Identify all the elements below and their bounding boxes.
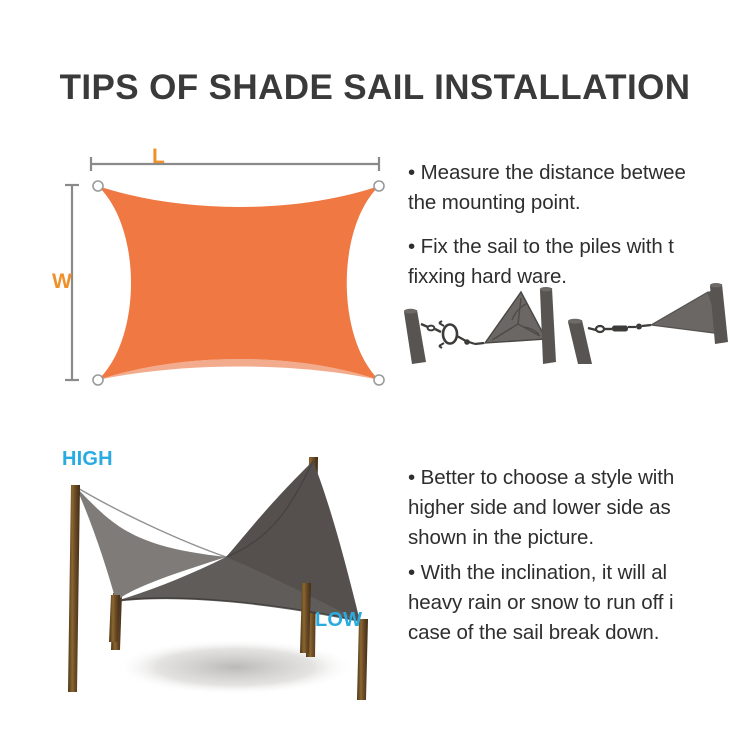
hardware-left-svg xyxy=(400,282,580,364)
mounting-post xyxy=(568,319,592,364)
high-side-label: HIGH xyxy=(62,448,113,471)
pole-front-left-high xyxy=(68,485,80,692)
sail-corner-patch xyxy=(485,292,546,343)
tip-better-text: • Better to choose a style with higher s… xyxy=(408,463,674,553)
mounting-post-left xyxy=(404,309,426,364)
turnbuckle-hardware xyxy=(421,321,484,348)
hardware-right-svg xyxy=(558,282,750,364)
sail-fabric xyxy=(98,186,379,380)
canopy-scene-svg xyxy=(30,435,420,720)
hardware-diagram-left xyxy=(400,282,580,364)
low-side-label: LOW xyxy=(315,609,362,632)
canopy-scene-diagram xyxy=(30,435,420,720)
length-dimension-line xyxy=(91,157,379,171)
tip-inclination-text: • With the inclination, it will al heavy… xyxy=(408,558,673,648)
tip-measure-text: • Measure the distance betwee the mounti… xyxy=(408,158,686,218)
far-post xyxy=(710,283,728,344)
cable-hardware xyxy=(588,324,651,333)
width-label: W xyxy=(52,270,72,294)
page-title: TIPS OF SHADE SAIL INSTALLATION xyxy=(0,68,750,108)
hardware-diagram-right xyxy=(558,282,750,364)
length-label: L xyxy=(152,145,165,169)
ground-shadow xyxy=(115,639,355,695)
infographic-canvas: TIPS OF SHADE SAIL INSTALLATION xyxy=(0,0,750,750)
mounting-post-right xyxy=(540,287,556,364)
rect-sail-diagram xyxy=(62,140,402,395)
rect-sail-svg xyxy=(62,140,402,395)
